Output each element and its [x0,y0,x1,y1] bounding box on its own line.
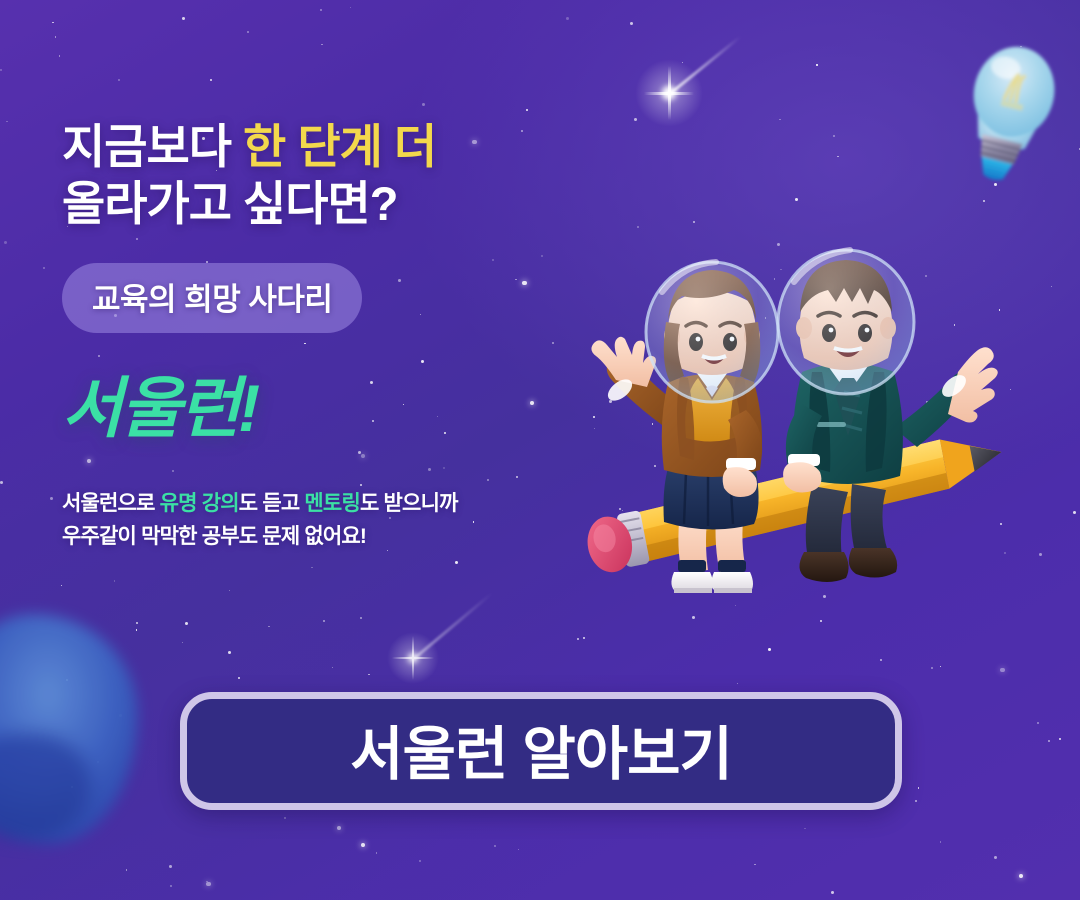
description-highlight-mentoring: 멘토링 [304,492,360,515]
headline-line-1: 지금보다 한 단계 더 [62,118,582,175]
description-block: 서울런으로 유명 강의도 듣고 멘토링도 받으니까 우주같이 막막한 공부도 문… [62,487,582,553]
learn-more-button-label: 서울런 알아보기 [350,707,732,791]
tagline-pill-badge: 교육의 희망 사다리 [62,263,362,333]
seoul-learn-promo-banner: 지금보다 한 단계 더 올라가고 싶다면? 교육의 희망 사다리 서울런! 서울… [0,0,1080,900]
description-highlight-lectures: 유명 강의 [160,492,239,515]
description-line-1: 서울런으로 유명 강의도 듣고 멘토링도 받으니까 [62,487,582,520]
shooting-star-sparkle [412,657,414,659]
headline-line-1-plain: 지금보다 [62,120,243,173]
brand-name: 서울런! [62,355,582,451]
learn-more-button[interactable]: 서울런 알아보기 [180,692,902,810]
description-line-1-part-c: 도 듣고 [239,492,305,515]
promo-copy-block: 지금보다 한 단계 더 올라가고 싶다면? 교육의 희망 사다리 서울런! 서울… [62,118,582,553]
headline-line-2: 올라가고 싶다면? [62,175,582,232]
headline-line-1-accent: 한 단계 더 [243,120,436,173]
blue-planet-object [0,614,138,844]
two-students-on-pencil-rocket-illustration [576,196,1016,600]
description-line-2: 우주같이 막막한 공부도 문제 없어요! [62,520,582,553]
description-line-1-part-a: 서울런으로 [62,492,160,515]
lightbulb-icon [939,23,1080,195]
shooting-star-sparkle [668,92,670,94]
description-line-1-part-e: 도 받으니까 [360,492,458,515]
